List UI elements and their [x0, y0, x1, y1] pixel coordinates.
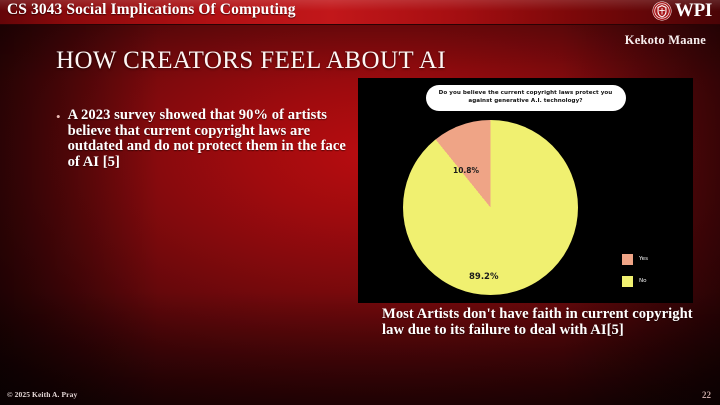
- legend-label-yes: Yes: [639, 256, 648, 263]
- wpi-logo: WPI: [652, 1, 712, 21]
- pie-chart: 10.8% 89.2%: [403, 120, 578, 295]
- chart-note: Most Artists don't have faith in current…: [382, 307, 694, 338]
- legend-swatch-yes: [622, 254, 633, 265]
- wpi-seal-icon: [652, 1, 672, 21]
- legend-item-no: No: [622, 276, 648, 287]
- chart-title: Do you believe the current copyright law…: [426, 85, 626, 111]
- legend-item-yes: Yes: [622, 254, 648, 265]
- pie-label-yes: 10.8%: [453, 166, 479, 175]
- wpi-wordmark: WPI: [675, 1, 712, 21]
- chart-legend: Yes No: [622, 254, 648, 287]
- bullet-text: A 2023 survey showed that 90% of artists…: [68, 108, 356, 170]
- page-title: HOW CREATORS FEEL ABOUT AI: [56, 47, 446, 75]
- bullet-list-item: • A 2023 survey showed that 90% of artis…: [56, 108, 356, 170]
- slide-canvas: CS 3043 Social Implications Of Computing…: [0, 0, 720, 405]
- author-name: Kekoto Maane: [625, 33, 706, 48]
- page-number: 22: [702, 390, 711, 400]
- course-title: CS 3043 Social Implications Of Computing: [7, 1, 296, 19]
- footer-copyright: © 2025 Keith A. Pray: [7, 390, 77, 399]
- pie-label-no: 89.2%: [469, 272, 499, 282]
- chart-panel: Do you believe the current copyright law…: [358, 78, 693, 303]
- legend-swatch-no: [622, 276, 633, 287]
- pie-slices: [403, 120, 578, 295]
- bullet-marker-icon: •: [56, 108, 61, 170]
- legend-label-no: No: [639, 278, 647, 285]
